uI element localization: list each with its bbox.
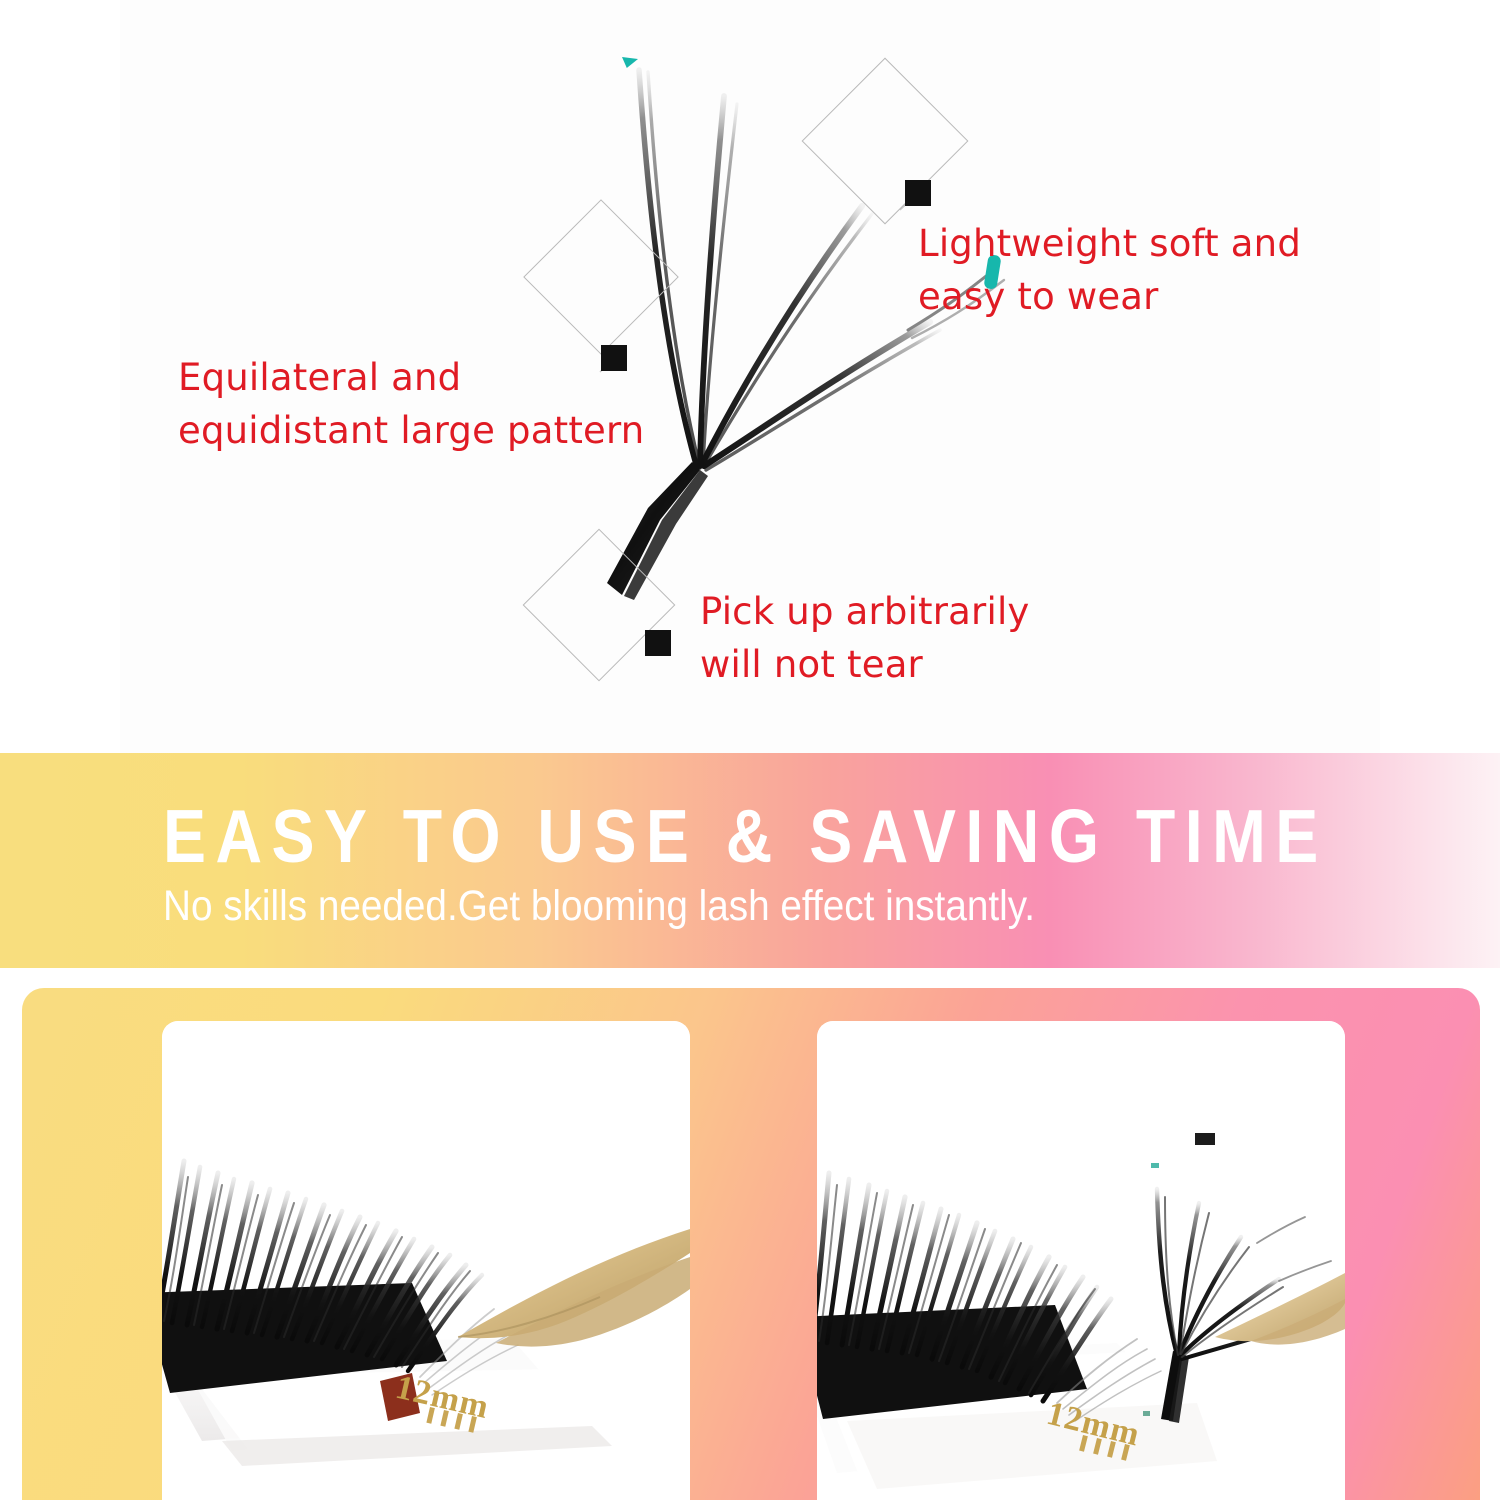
- callout-marker-square: [645, 630, 671, 656]
- callout-label-pickup: Pick up arbitrarily will not tear: [700, 586, 1030, 691]
- callout-label-equilateral: Equilateral and equidistant large patter…: [178, 352, 644, 457]
- product-photo-tweezers: 12mm: [162, 1021, 690, 1500]
- banner-subtitle: No skills needed.Get blooming lash effec…: [163, 885, 1035, 928]
- gradient-photo-panel: 12mm: [22, 988, 1480, 1500]
- lash-tray-photo-right: 12mm: [817, 1021, 1345, 1500]
- product-photo-picked-fan: 12mm: [817, 1021, 1345, 1500]
- feature-diagram-section: Equilateral and equidistant large patter…: [0, 0, 1500, 753]
- banner-headline: EASY TO USE & SAVING TIME: [163, 799, 1328, 874]
- product-photos-section: 12mm: [0, 968, 1500, 1500]
- callout-label-lightweight: Lightweight soft and easy to wear: [918, 218, 1301, 323]
- callout-marker-square: [905, 180, 931, 206]
- promo-banner: EASY TO USE & SAVING TIME No skills need…: [0, 753, 1500, 968]
- lash-tray-photo-left: 12mm: [162, 1021, 690, 1500]
